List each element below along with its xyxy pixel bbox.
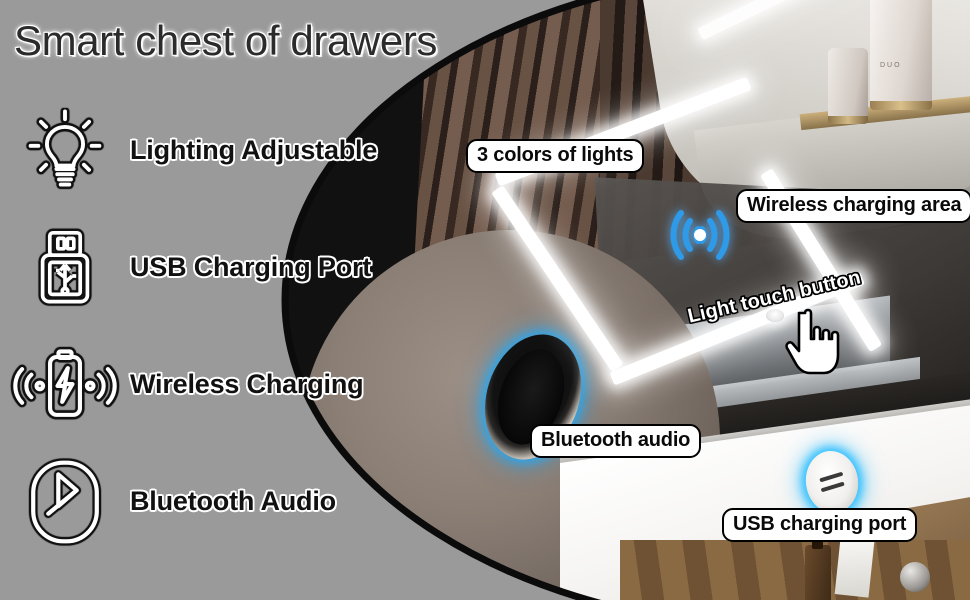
page-title: Smart chest of drawers [14, 16, 437, 66]
bottle-label-text: DUO [880, 62, 902, 69]
wireless-charging-icon [0, 343, 130, 427]
callout-bluetooth-audio: Bluetooth audio [530, 424, 701, 458]
drawer-knob [900, 562, 930, 592]
feature-label-usb: USB Charging Port [130, 252, 371, 283]
lightbulb-icon [0, 108, 130, 194]
feature-list: Lighting Adjustable [0, 92, 440, 560]
feature-row-lighting: Lighting Adjustable [0, 92, 440, 209]
touch-button-dot[interactable] [766, 309, 784, 322]
feature-row-wireless: Wireless Charging [0, 326, 440, 443]
hand-pointer-icon [783, 303, 841, 379]
cosmetic-bottle-large [870, 0, 932, 103]
feature-label-wireless: Wireless Charging [130, 369, 363, 400]
feature-label-lighting: Lighting Adjustable [130, 135, 377, 166]
feature-row-bluetooth: Bluetooth Audio [0, 443, 440, 560]
callout-wireless-charging-area: Wireless charging area [736, 189, 970, 223]
feature-label-bluetooth: Bluetooth Audio [130, 486, 336, 517]
callout-3-colors-of-lights: 3 colors of lights [466, 139, 644, 173]
wireless-signal-icon [655, 205, 745, 265]
usb-plug-icon [0, 228, 130, 308]
cosmetic-bottle-small [828, 48, 868, 118]
callout-usb-charging-port: USB charging port [722, 508, 917, 542]
bluetooth-icon [0, 456, 130, 548]
infographic-canvas: DUO [0, 0, 970, 600]
floor-bottle [805, 545, 831, 600]
feature-row-usb: USB Charging Port [0, 209, 440, 326]
